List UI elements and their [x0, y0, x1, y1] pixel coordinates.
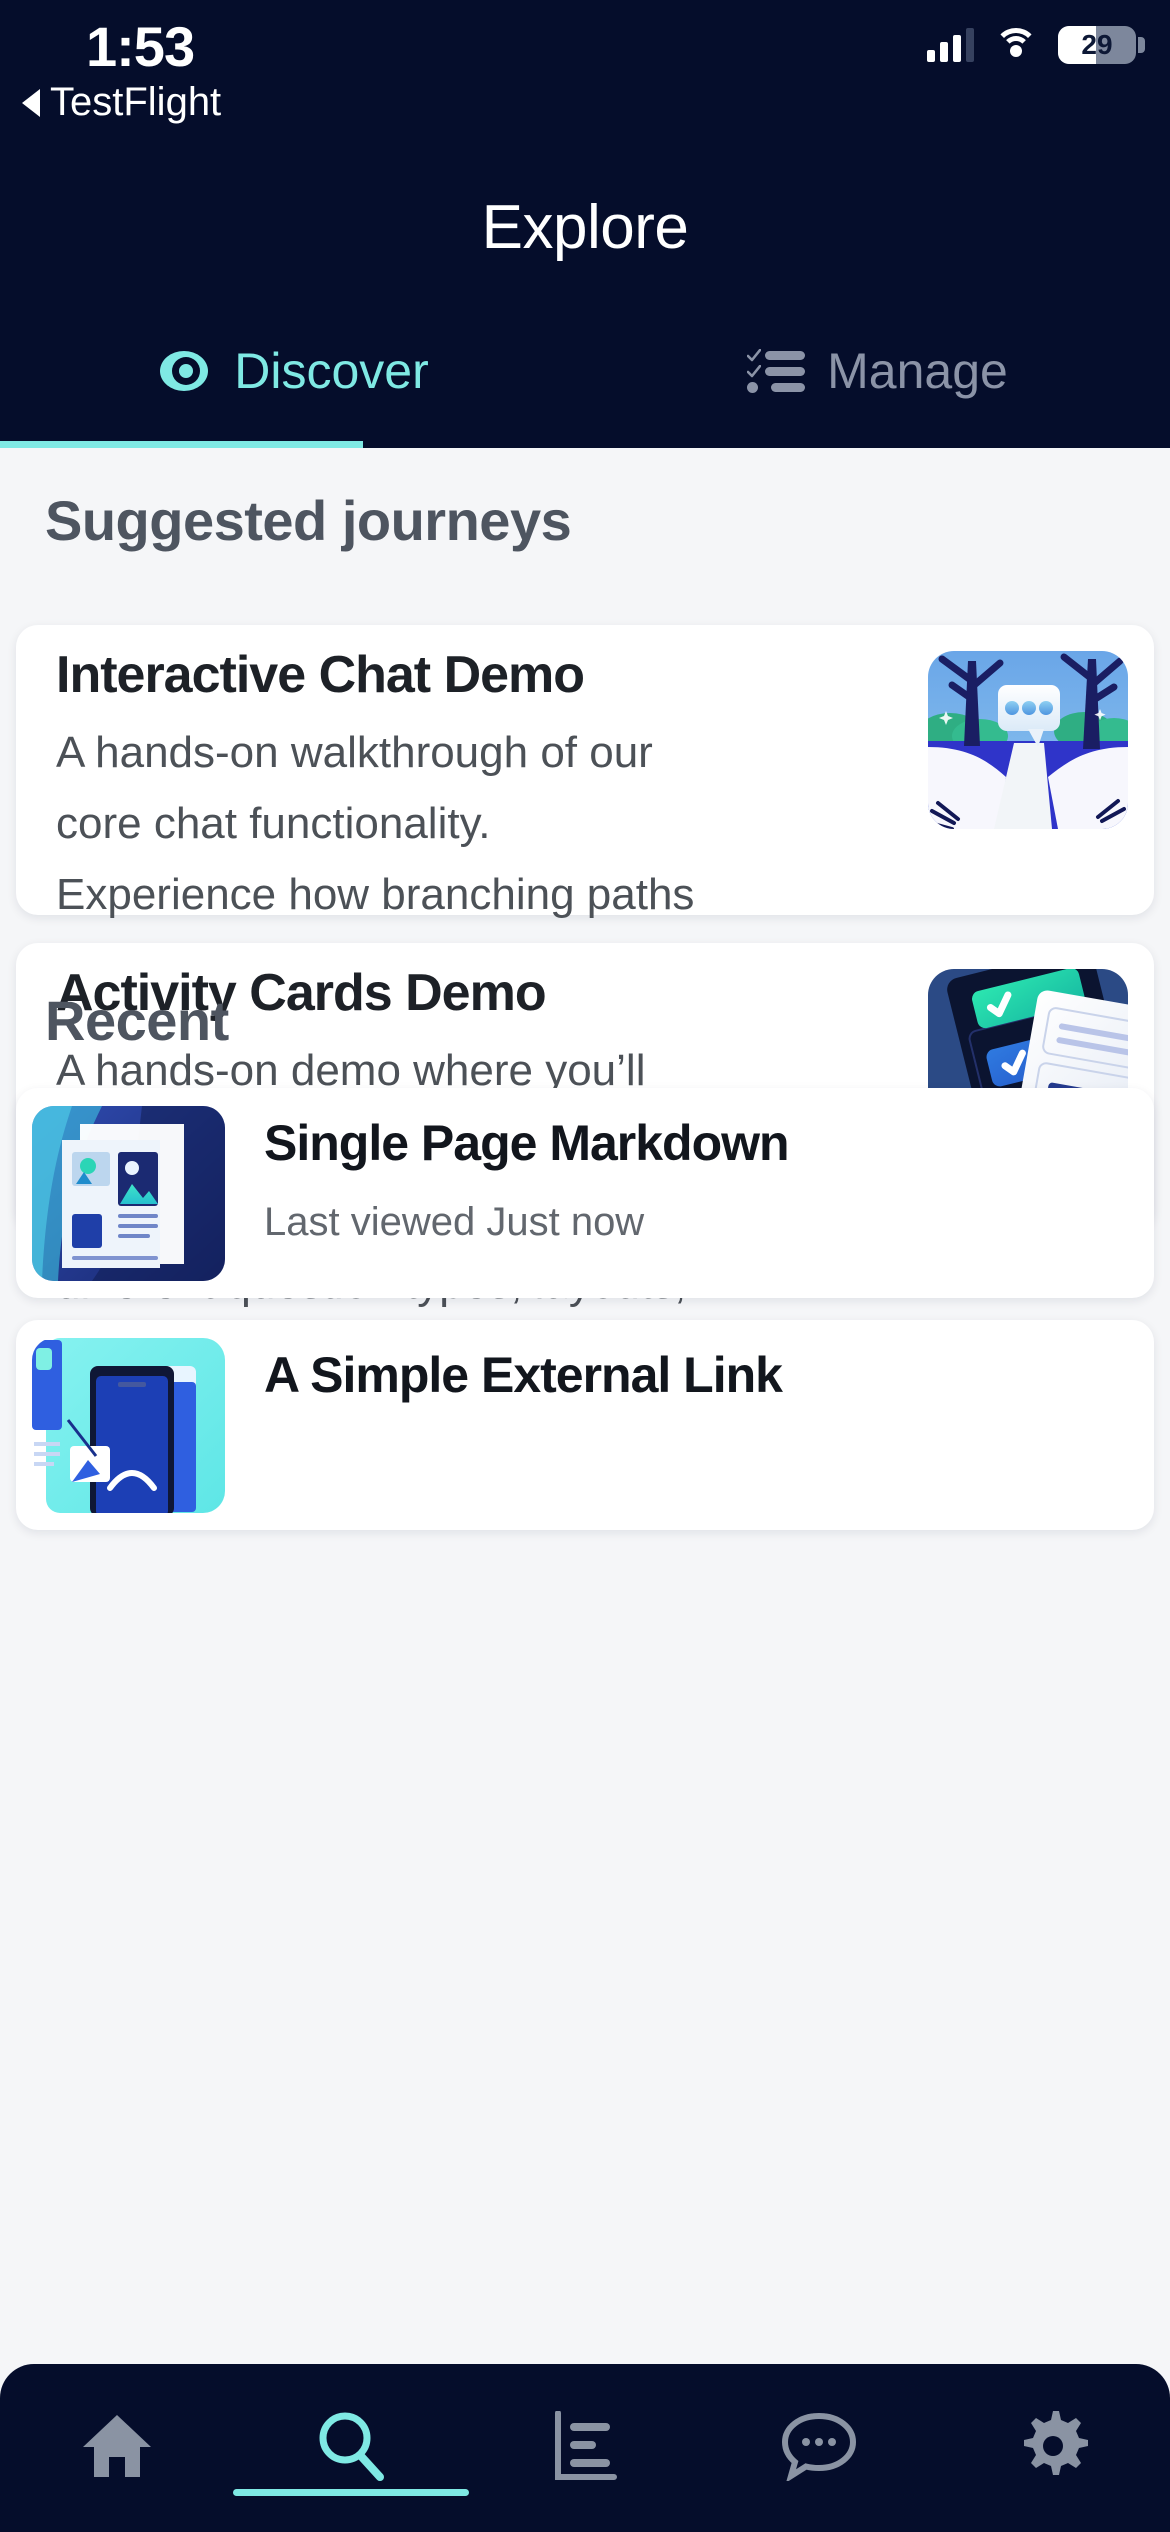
chart-list-icon — [552, 2411, 618, 2486]
journey-card-interactive-chat-demo[interactable]: Interactive Chat Demo A hands-on walkthr… — [16, 625, 1154, 915]
back-app-label: TestFlight — [50, 80, 221, 125]
back-to-testflight-button[interactable]: TestFlight — [22, 80, 221, 125]
active-tab-indicator — [0, 441, 363, 448]
bottom-tab-active-indicator — [233, 2489, 469, 2496]
journey-card-thumbnail — [928, 651, 1128, 829]
battery-level-label: 29 — [1058, 26, 1136, 64]
search-icon — [314, 2409, 388, 2488]
bottom-tab-insights[interactable] — [468, 2364, 702, 2532]
segment-tab-bar: Discover Manage — [0, 300, 1170, 448]
eye-icon — [156, 351, 212, 391]
chat-bubble-icon — [781, 2411, 857, 2486]
wifi-icon — [994, 28, 1038, 62]
bottom-tab-bar — [0, 2364, 1170, 2532]
bottom-tab-chat[interactable] — [702, 2364, 936, 2532]
app-screen: 1:53 TestFlight 29 Explore Discover — [0, 0, 1170, 2532]
bottom-tab-home[interactable] — [0, 2364, 234, 2532]
recent-item-a-simple-external-link[interactable]: A Simple External Link — [16, 1320, 1154, 1530]
back-triangle-icon — [22, 89, 40, 117]
gear-icon — [1016, 2409, 1090, 2488]
page-title: Explore — [0, 192, 1170, 263]
bottom-tab-search[interactable] — [234, 2364, 468, 2532]
nav-header: Explore — [0, 180, 1170, 300]
tab-manage-label: Manage — [827, 342, 1008, 400]
recent-item-single-page-markdown[interactable]: Single Page Markdown Last viewed Just no… — [16, 1088, 1154, 1298]
status-bar: 1:53 TestFlight 29 — [0, 0, 1170, 180]
status-bar-time: 1:53 — [86, 14, 194, 79]
tab-discover[interactable]: Discover — [0, 300, 585, 442]
recent-item-title: Single Page Markdown — [264, 1114, 789, 1172]
section-heading-suggested: Suggested journeys — [45, 488, 571, 553]
tab-manage[interactable]: Manage — [585, 300, 1170, 442]
recent-item-thumbnail — [32, 1106, 225, 1281]
signal-bars-icon — [927, 28, 974, 62]
checklist-icon — [747, 349, 805, 393]
journey-card-title: Interactive Chat Demo — [56, 645, 584, 705]
section-heading-recent: Recent — [45, 988, 229, 1053]
bottom-tab-settings[interactable] — [936, 2364, 1170, 2532]
home-icon — [80, 2411, 154, 2486]
status-bar-indicators: 29 — [927, 26, 1136, 64]
scroll-content[interactable]: Suggested journeys Interactive Chat Demo… — [0, 448, 1170, 2364]
battery-icon: 29 — [1058, 26, 1136, 64]
tab-discover-label: Discover — [234, 342, 428, 400]
recent-item-title: A Simple External Link — [264, 1346, 782, 1404]
recent-item-subtitle: Last viewed Just now — [264, 1200, 644, 1245]
recent-item-thumbnail — [32, 1338, 225, 1513]
